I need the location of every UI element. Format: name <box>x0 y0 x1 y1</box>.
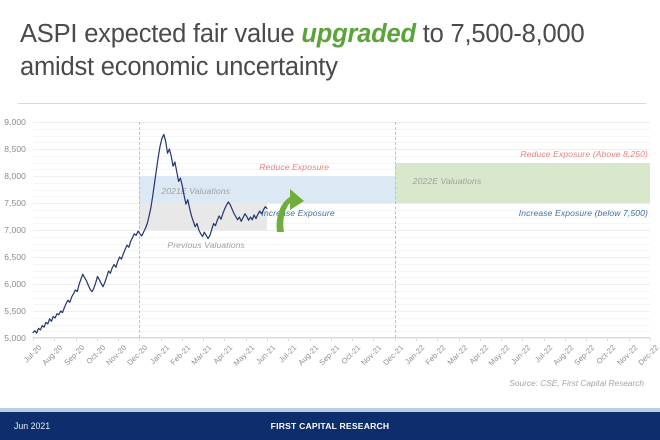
x-axis-tick <box>544 338 545 341</box>
upgrade-arrow-icon <box>273 188 307 234</box>
footer-brand: FIRST CAPITAL RESEARCH <box>271 421 390 431</box>
x-axis-tick <box>629 338 630 341</box>
x-axis-tick-label: Aug-21 <box>296 343 320 367</box>
y-axis-tick-label: 8,000 <box>4 171 26 181</box>
x-axis-tick-label: Feb-22 <box>424 343 448 367</box>
x-axis-tick <box>650 338 651 341</box>
y-axis-tick-label: 5,500 <box>4 306 26 316</box>
y-axis-tick-label: 8,500 <box>4 144 26 154</box>
x-axis-tick <box>246 338 247 341</box>
slide-root: ASPI expected fair value upgraded to 7,5… <box>0 0 660 440</box>
x-axis-tick <box>437 338 438 341</box>
y-axis-tick-label: 7,500 <box>4 198 26 208</box>
x-axis-tick-label: Apr-22 <box>467 343 490 366</box>
x-axis-tick <box>522 338 523 341</box>
x-axis-tick <box>118 338 119 341</box>
x-axis-tick <box>33 338 34 341</box>
x-axis-tick <box>607 338 608 341</box>
x-axis-tick <box>54 338 55 341</box>
x-axis-tick <box>459 338 460 341</box>
x-axis-tick-label: Oct-22 <box>595 343 618 366</box>
x-axis-tick-label: Jul-21 <box>277 343 298 364</box>
x-axis-tick <box>352 338 353 341</box>
x-axis-tick <box>224 338 225 341</box>
x-axis-tick-label: Nov-20 <box>104 343 128 367</box>
plot-area: 2021E Valuations Previous Valuations 202… <box>33 122 650 338</box>
x-axis-tick-label: Dec-21 <box>381 343 405 367</box>
x-axis-tick-label: Jun-22 <box>509 343 532 366</box>
x-axis-tick <box>586 338 587 341</box>
x-axis-tick <box>97 338 98 341</box>
x-axis-tick <box>182 338 183 341</box>
y-axis-tick-label: 6,000 <box>4 279 26 289</box>
x-axis-tick-label: Jan-21 <box>148 343 171 366</box>
x-axis-tick-label: Mar-22 <box>445 343 469 367</box>
x-axis-tick <box>480 338 481 341</box>
x-axis-tick-label: Dec-20 <box>126 343 150 367</box>
page-title: ASPI expected fair value upgraded to 7,5… <box>20 18 645 84</box>
x-axis-tick-label: Apr-21 <box>212 343 235 366</box>
x-axis-tick <box>267 338 268 341</box>
x-axis-tick-label: Dec-22 <box>636 343 660 367</box>
x-axis-tick-label: Oct-21 <box>340 343 363 366</box>
title-text-pre: ASPI expected fair value <box>20 20 301 48</box>
title-highlight-word: upgraded <box>301 20 416 48</box>
x-axis-tick <box>501 338 502 341</box>
y-axis-tick-label: 9,000 <box>4 117 26 127</box>
x-axis-tick <box>203 338 204 341</box>
chart-container: 2021E Valuations Previous Valuations 202… <box>0 108 660 370</box>
x-axis-tick <box>416 338 417 341</box>
x-axis-tick-label: Sep-22 <box>572 343 596 367</box>
x-axis-tick-label: Jan-22 <box>403 343 426 366</box>
x-axis-tick <box>373 338 374 341</box>
x-axis-tick-label: Nov-22 <box>615 343 639 367</box>
x-axis-tick-label: Aug-22 <box>551 343 575 367</box>
x-axis-tick-label: May-22 <box>487 343 512 368</box>
x-axis-tick <box>331 338 332 341</box>
x-axis-tick <box>76 338 77 341</box>
x-axis-tick-label: Feb-21 <box>168 343 192 367</box>
footer-date: Jun 2021 <box>14 421 50 431</box>
y-axis-tick-label: 7,000 <box>4 225 26 235</box>
x-axis-tick-label: Sep-20 <box>62 343 86 367</box>
footer-bar: Jun 2021 FIRST CAPITAL RESEARCH <box>0 412 660 440</box>
aspi-line-series <box>33 122 650 338</box>
x-axis-tick <box>310 338 311 341</box>
x-axis-tick-label: May-21 <box>231 343 256 368</box>
x-axis-tick-label: Mar-21 <box>190 343 214 367</box>
gridline <box>33 338 650 339</box>
y-axis-tick-label: 6,500 <box>4 252 26 262</box>
x-axis-tick-label: Sep-21 <box>317 343 341 367</box>
x-axis-tick-label: Aug-20 <box>41 343 65 367</box>
x-axis-tick-label: Nov-21 <box>360 343 384 367</box>
aspi-line-path <box>33 134 267 333</box>
x-axis-tick-label: Jun-21 <box>254 343 277 366</box>
x-axis-tick-label: Oct-20 <box>84 343 107 366</box>
x-axis-line <box>33 337 650 338</box>
x-axis-tick <box>288 338 289 341</box>
x-axis-tick <box>565 338 566 341</box>
y-axis-tick-label: 5,000 <box>4 333 26 343</box>
x-axis-tick <box>395 338 396 341</box>
x-axis-tick <box>139 338 140 341</box>
x-axis-tick <box>161 338 162 341</box>
source-note: Source: CSE, First Capital Research <box>509 378 644 388</box>
title-divider <box>18 103 646 104</box>
